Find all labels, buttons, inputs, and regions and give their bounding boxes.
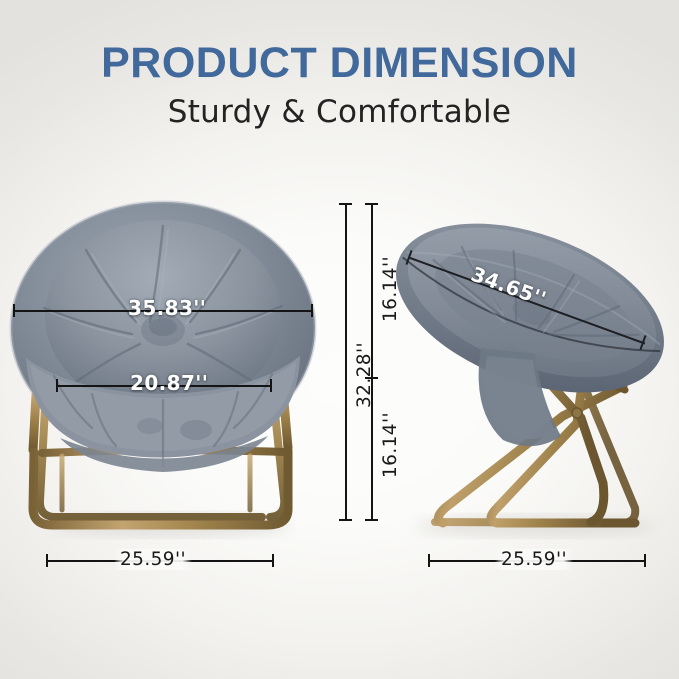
product-dimension-infographic: PRODUCT DIMENSION Sturdy & Comfortable [0, 0, 679, 679]
dimension-value-seat-height: 16.14'' [380, 412, 401, 478]
dimension-saucer-diameter: 34.65'' [410, 215, 670, 375]
dimension-value-saucer-diameter: 34.65'' [468, 262, 550, 311]
front-view-chair [0, 180, 340, 540]
dimension-value-backrest-height: 16.14'' [380, 256, 401, 322]
dimension-value-front-base-depth: 25.59'' [114, 549, 192, 570]
dimension-value-overall-width: 35.83'' [128, 296, 206, 320]
dimension-value-side-base-depth: 25.59'' [495, 549, 573, 570]
page-title: PRODUCT DIMENSION [0, 42, 679, 85]
header: PRODUCT DIMENSION Sturdy & Comfortable [0, 0, 679, 128]
chair-cushion [11, 202, 315, 472]
dimension-value-seat-width: 20.87'' [130, 371, 208, 395]
page-subtitle: Sturdy & Comfortable [0, 97, 679, 128]
